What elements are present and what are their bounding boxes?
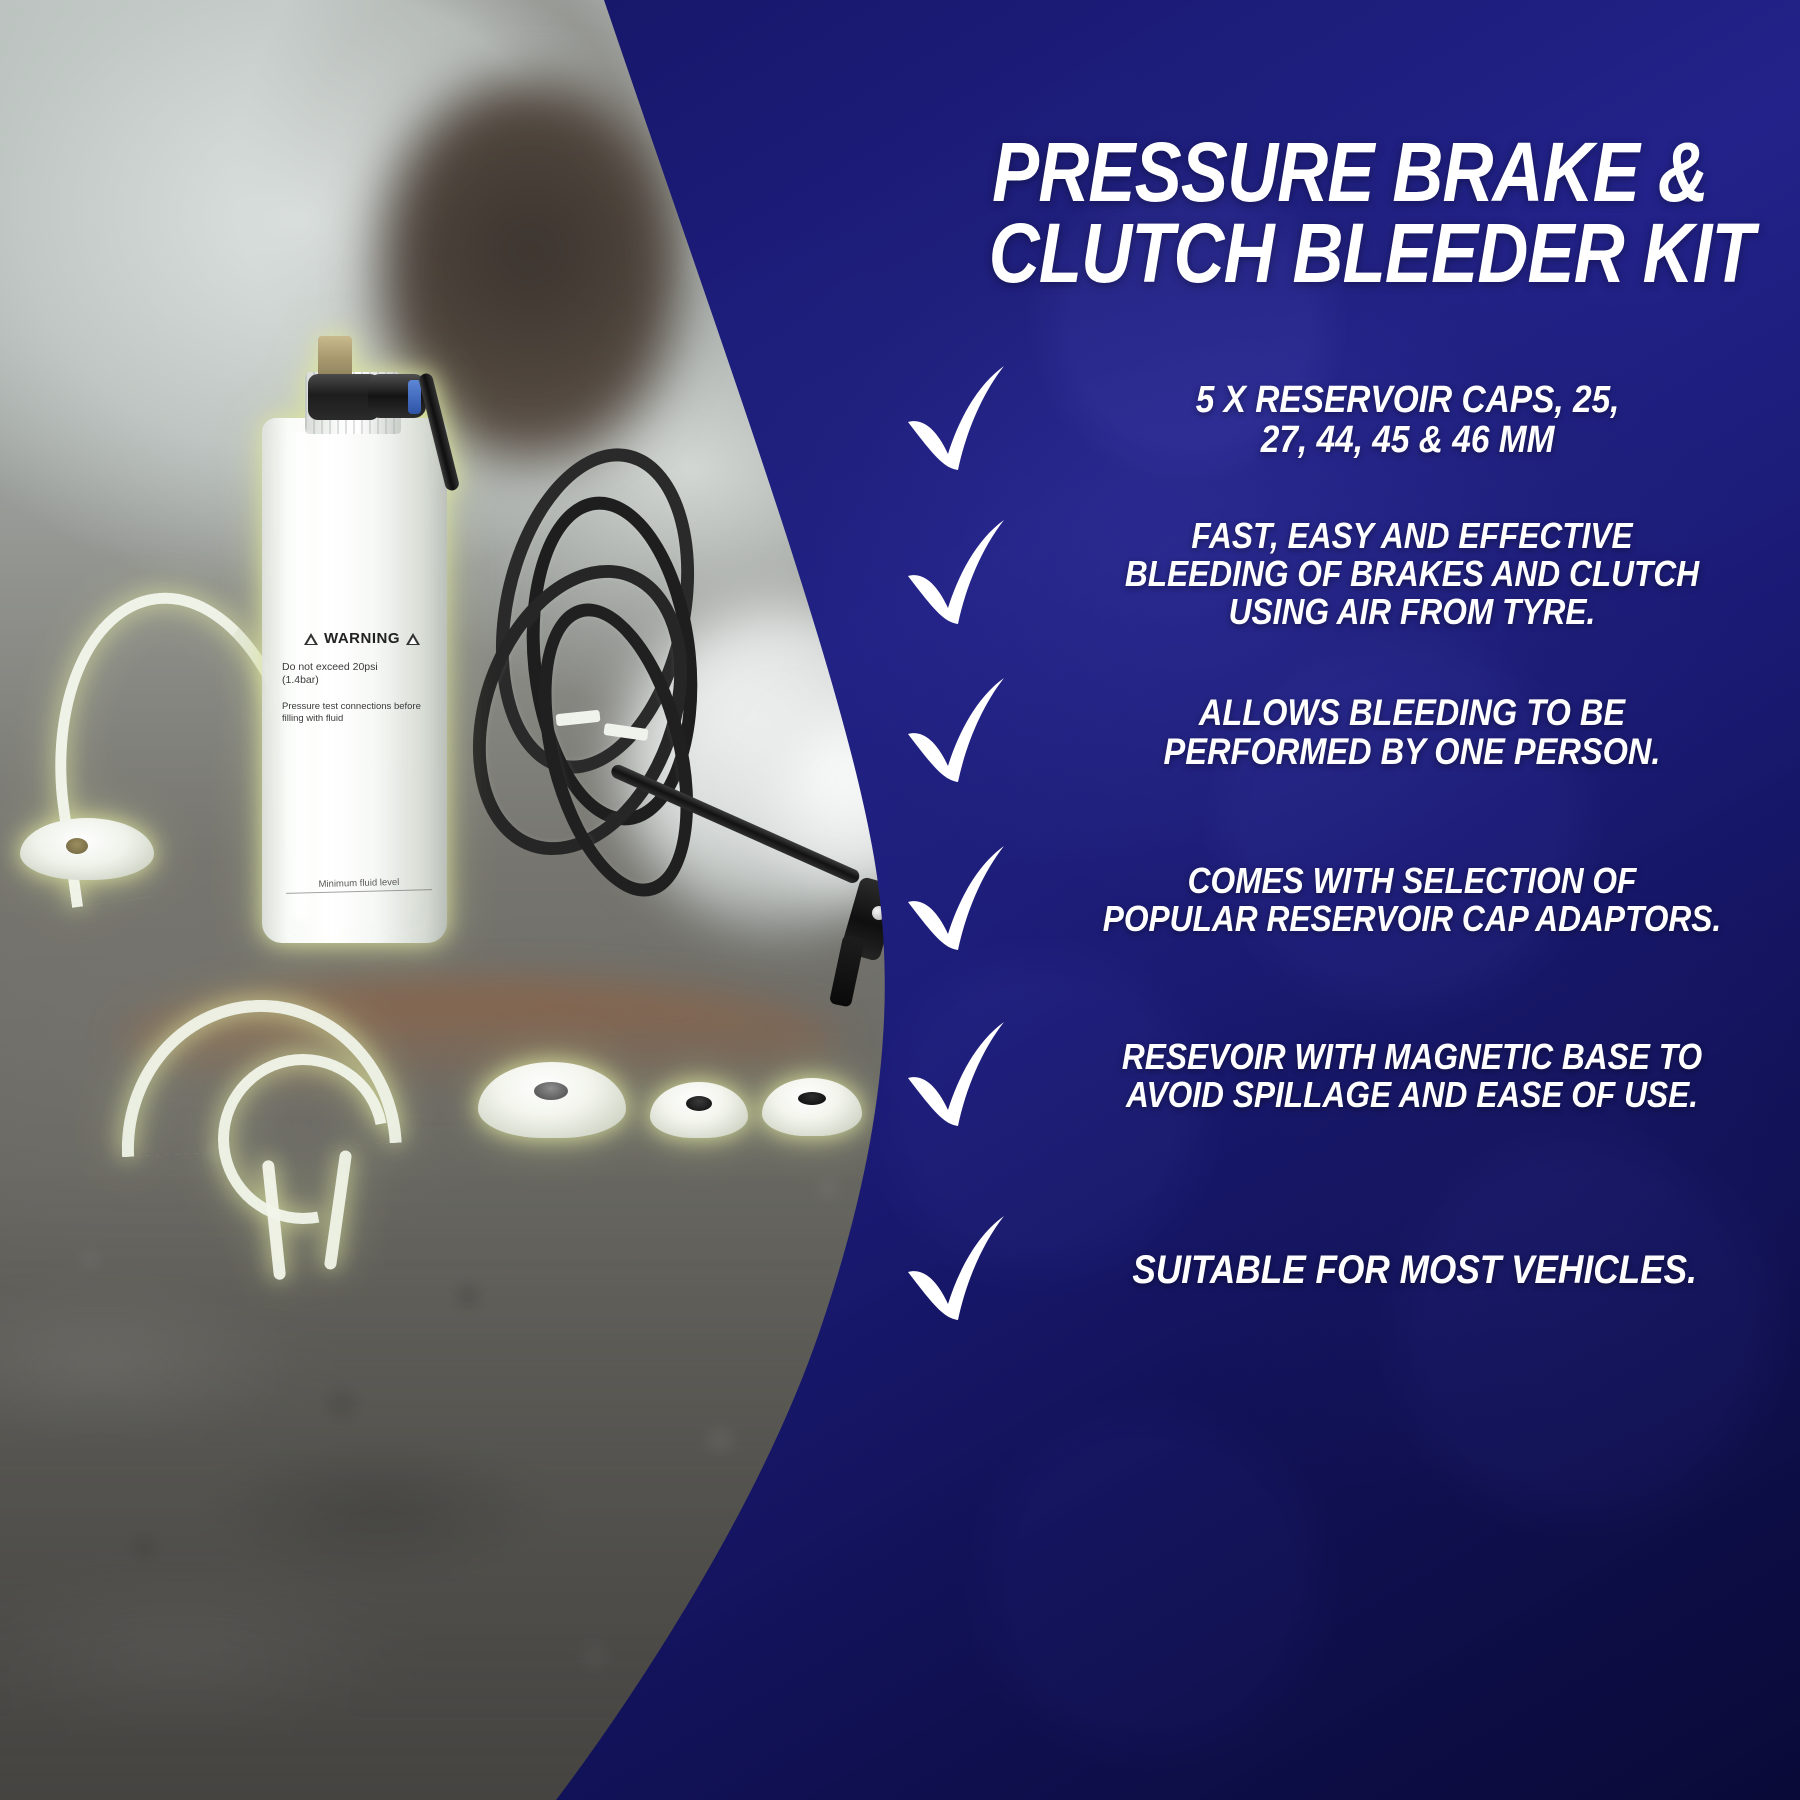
feature-item-fast-easy-effective: FAST, EASY AND EFFECTIVE BLEEDING OF BRA… (900, 514, 1800, 634)
warning-row: WARNING (282, 630, 442, 649)
warning-title: WARNING (324, 630, 400, 649)
feature-text: SUITABLE FOR MOST VEHICLES. (1071, 1249, 1754, 1291)
feature-line-1: ALLOWS BLEEDING TO BE (1071, 693, 1754, 732)
feature-text: COMES WITH SELECTION OF POPULAR RESERVOI… (1071, 862, 1754, 938)
feature-text: FAST, EASY AND EFFECTIVE BLEEDING OF BRA… (1071, 517, 1754, 631)
warning-triangle-icon-2 (406, 633, 420, 645)
check-icon (900, 840, 1020, 960)
warning-line-3: Pressure test connections before filling… (282, 701, 442, 726)
title-line-1: PRESSURE BRAKE & (989, 132, 1711, 213)
check-icon (900, 1016, 1020, 1136)
feature-text: ALLOWS BLEEDING TO BE PERFORMED BY ONE P… (1071, 693, 1754, 771)
cap-adaptor-medium-hole (686, 1096, 712, 1111)
warning-line-2: (1.4bar) (282, 674, 442, 687)
feature-line-2: AVOID SPILLAGE AND EASE OF USE. (1071, 1076, 1754, 1114)
feature-item-most-vehicles: SUITABLE FOR MOST VEHICLES. (900, 1210, 1800, 1330)
bottle-warning-label: WARNING Do not exceed 20psi (1.4bar) Pre… (282, 630, 442, 726)
feature-line-1: 5 X RESERVOIR CAPS, 25, (1071, 380, 1745, 420)
feature-line-1: SUITABLE FOR MOST VEHICLES. (1076, 1249, 1754, 1291)
feature-line-1: FAST, EASY AND EFFECTIVE (1071, 517, 1754, 555)
check-icon (900, 360, 1020, 480)
feature-line-2: POPULAR RESERVOIR CAP ADAPTORS. (1071, 900, 1754, 938)
feature-item-cap-adaptors: COMES WITH SELECTION OF POPULAR RESERVOI… (900, 840, 1800, 960)
feature-text: 5 X RESERVOIR CAPS, 25, 27, 44, 45 & 46 … (1071, 380, 1754, 461)
feature-line-2: PERFORMED BY ONE PERSON. (1071, 732, 1754, 771)
page-title: PRESSURE BRAKE & CLUTCH BLEEDER KIT (989, 132, 1711, 293)
check-icon (900, 672, 1020, 792)
cap-adaptor-small-hole (798, 1092, 826, 1105)
feature-item-reservoir-caps: 5 X RESERVOIR CAPS, 25, 27, 44, 45 & 46 … (900, 360, 1800, 480)
title-line-2: CLUTCH BLEEDER KIT (989, 213, 1711, 294)
feature-line-2: BLEEDING OF BRAKES AND CLUTCH (1071, 555, 1754, 593)
cap-adaptor-large-hole (534, 1082, 568, 1100)
feature-line-1: COMES WITH SELECTION OF (1071, 862, 1754, 900)
feature-item-magnetic-base: RESEVOIR WITH MAGNETIC BASE TO AVOID SPI… (900, 1016, 1800, 1136)
feature-line-2: 27, 44, 45 & 46 MM (1071, 420, 1745, 460)
check-icon (900, 514, 1020, 634)
blue-collet-ring (408, 380, 421, 414)
check-icon (900, 1210, 1020, 1330)
feature-text: RESEVOIR WITH MAGNETIC BASE TO AVOID SPI… (1071, 1038, 1754, 1114)
warning-triangle-icon (304, 633, 318, 645)
feature-list: 5 X RESERVOIR CAPS, 25, 27, 44, 45 & 46 … (900, 360, 1800, 1340)
feature-item-one-person: ALLOWS BLEEDING TO BE PERFORMED BY ONE P… (900, 672, 1800, 792)
magnetic-base-hole (66, 838, 88, 854)
feature-line-1: RESEVOIR WITH MAGNETIC BASE TO (1071, 1038, 1754, 1076)
feature-line-3: USING AIR FROM TYRE. (1071, 593, 1754, 631)
product-marketing-image: WARNING Do not exceed 20psi (1.4bar) Pre… (0, 0, 1800, 1800)
warning-line-1: Do not exceed 20psi (282, 661, 442, 674)
